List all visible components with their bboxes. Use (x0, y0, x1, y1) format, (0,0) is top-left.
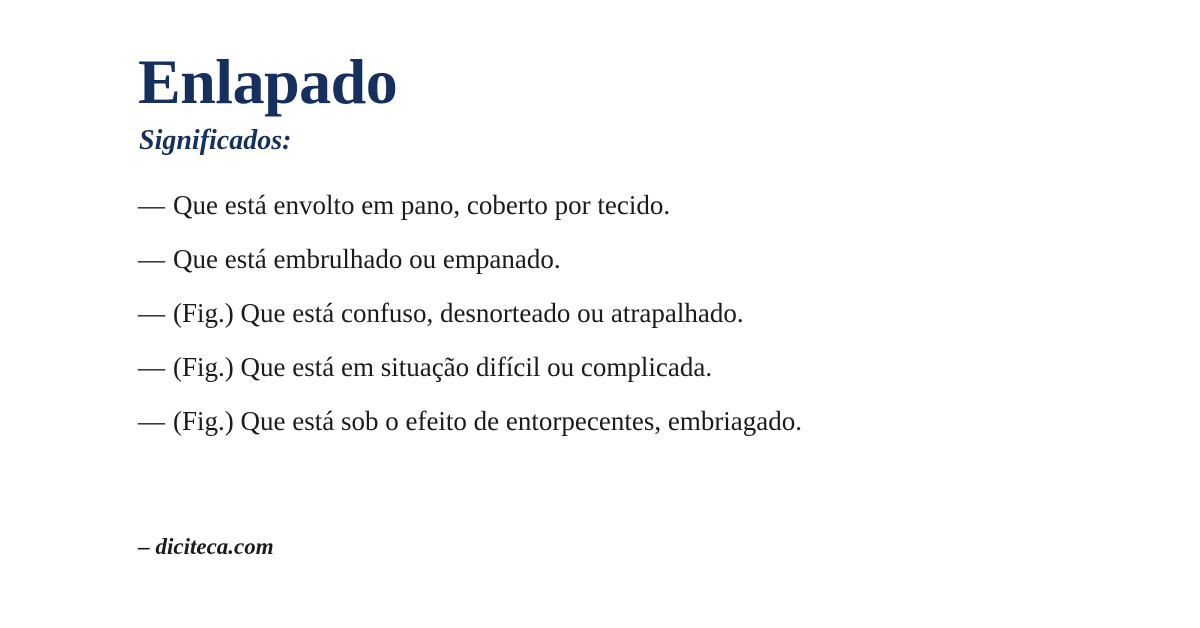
list-item: —(Fig.) Que está sob o efeito de entorpe… (138, 404, 1048, 438)
definition-text: (Fig.) Que está sob o efeito de entorpec… (173, 406, 802, 436)
list-item: —Que está envolto em pano, coberto por t… (138, 188, 1048, 222)
definition-text: Que está embrulhado ou empanado. (173, 244, 561, 274)
em-dash-icon: — (138, 244, 165, 274)
list-item: —(Fig.) Que está em situação difícil ou … (138, 350, 1048, 384)
meanings-section-label: Significados: (139, 126, 291, 157)
em-dash-icon: — (138, 352, 165, 382)
definition-text: (Fig.) Que está confuso, desnorteado ou … (173, 298, 744, 328)
en-dash-icon: – (138, 534, 150, 559)
em-dash-icon: — (138, 190, 165, 220)
dictionary-entry-card: Enlapado Significados: —Que está envolto… (0, 0, 1200, 628)
em-dash-icon: — (138, 406, 165, 436)
definition-text: (Fig.) Que está em situação difícil ou c… (173, 352, 712, 382)
list-item: —(Fig.) Que está confuso, desnorteado ou… (138, 296, 1048, 330)
list-item: —Que está embrulhado ou empanado. (138, 242, 1048, 276)
definition-text: Que está envolto em pano, coberto por te… (173, 190, 670, 220)
em-dash-icon: — (138, 298, 165, 328)
source-name: diciteca.com (156, 534, 274, 559)
page-title: Enlapado (138, 48, 397, 115)
source-attribution: –diciteca.com (138, 533, 274, 561)
definitions-list: —Que está envolto em pano, coberto por t… (138, 188, 1048, 438)
